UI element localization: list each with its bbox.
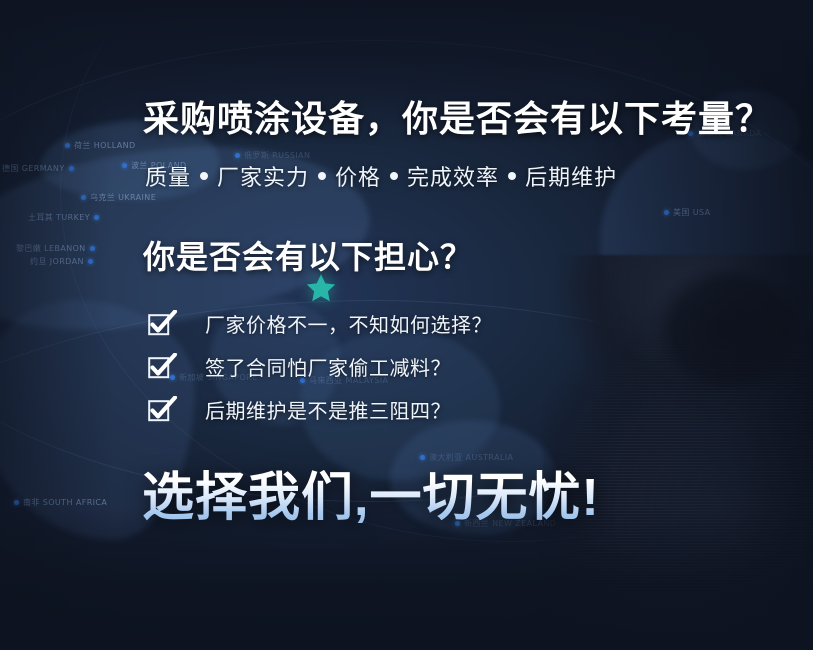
feature-item: 完成效率	[407, 160, 499, 192]
bullet-separator-icon	[390, 172, 398, 180]
bullet-separator-icon	[318, 172, 326, 180]
list-item: 后期维护是不是推三阻四？	[148, 388, 492, 431]
list-item: 签了合同怕厂家偷工减料？	[148, 345, 492, 388]
page-title: 采购喷涂设备，你是否会有以下考量？	[143, 90, 772, 142]
bullet-separator-icon	[200, 172, 208, 180]
banner-content: 采购喷涂设备，你是否会有以下考量？ 质量厂家实力价格完成效率后期维护 你是否会有…	[0, 0, 813, 650]
checkbox-checked-icon	[148, 313, 169, 334]
bullet-separator-icon	[508, 172, 516, 180]
feature-item: 质量	[145, 160, 191, 192]
list-item: 厂家价格不一，不知如何选择？	[148, 302, 492, 345]
feature-item: 厂家实力	[217, 160, 309, 192]
feature-list: 质量厂家实力价格完成效率后期维护	[145, 160, 617, 192]
list-item-label: 后期维护是不是推三阻四？	[205, 395, 451, 424]
slogan-text: 选择我们,一切无忧!	[142, 455, 600, 530]
list-item-label: 厂家价格不一，不知如何选择？	[205, 309, 492, 338]
feature-item: 价格	[335, 160, 381, 192]
checkbox-checked-icon	[148, 356, 169, 377]
feature-item: 后期维护	[525, 160, 617, 192]
checkbox-checked-icon	[148, 399, 169, 420]
list-item-label: 签了合同怕厂家偷工减料？	[205, 352, 451, 381]
concern-checklist: 厂家价格不一，不知如何选择？签了合同怕厂家偷工减料？后期维护是不是推三阻四？	[148, 302, 492, 431]
secondary-title: 你是否会有以下担心？	[143, 232, 473, 278]
promo-banner: 荷兰 HOLLAND波兰 POLAND德国 GERMANY乌克兰 UKRAINE…	[0, 0, 813, 650]
